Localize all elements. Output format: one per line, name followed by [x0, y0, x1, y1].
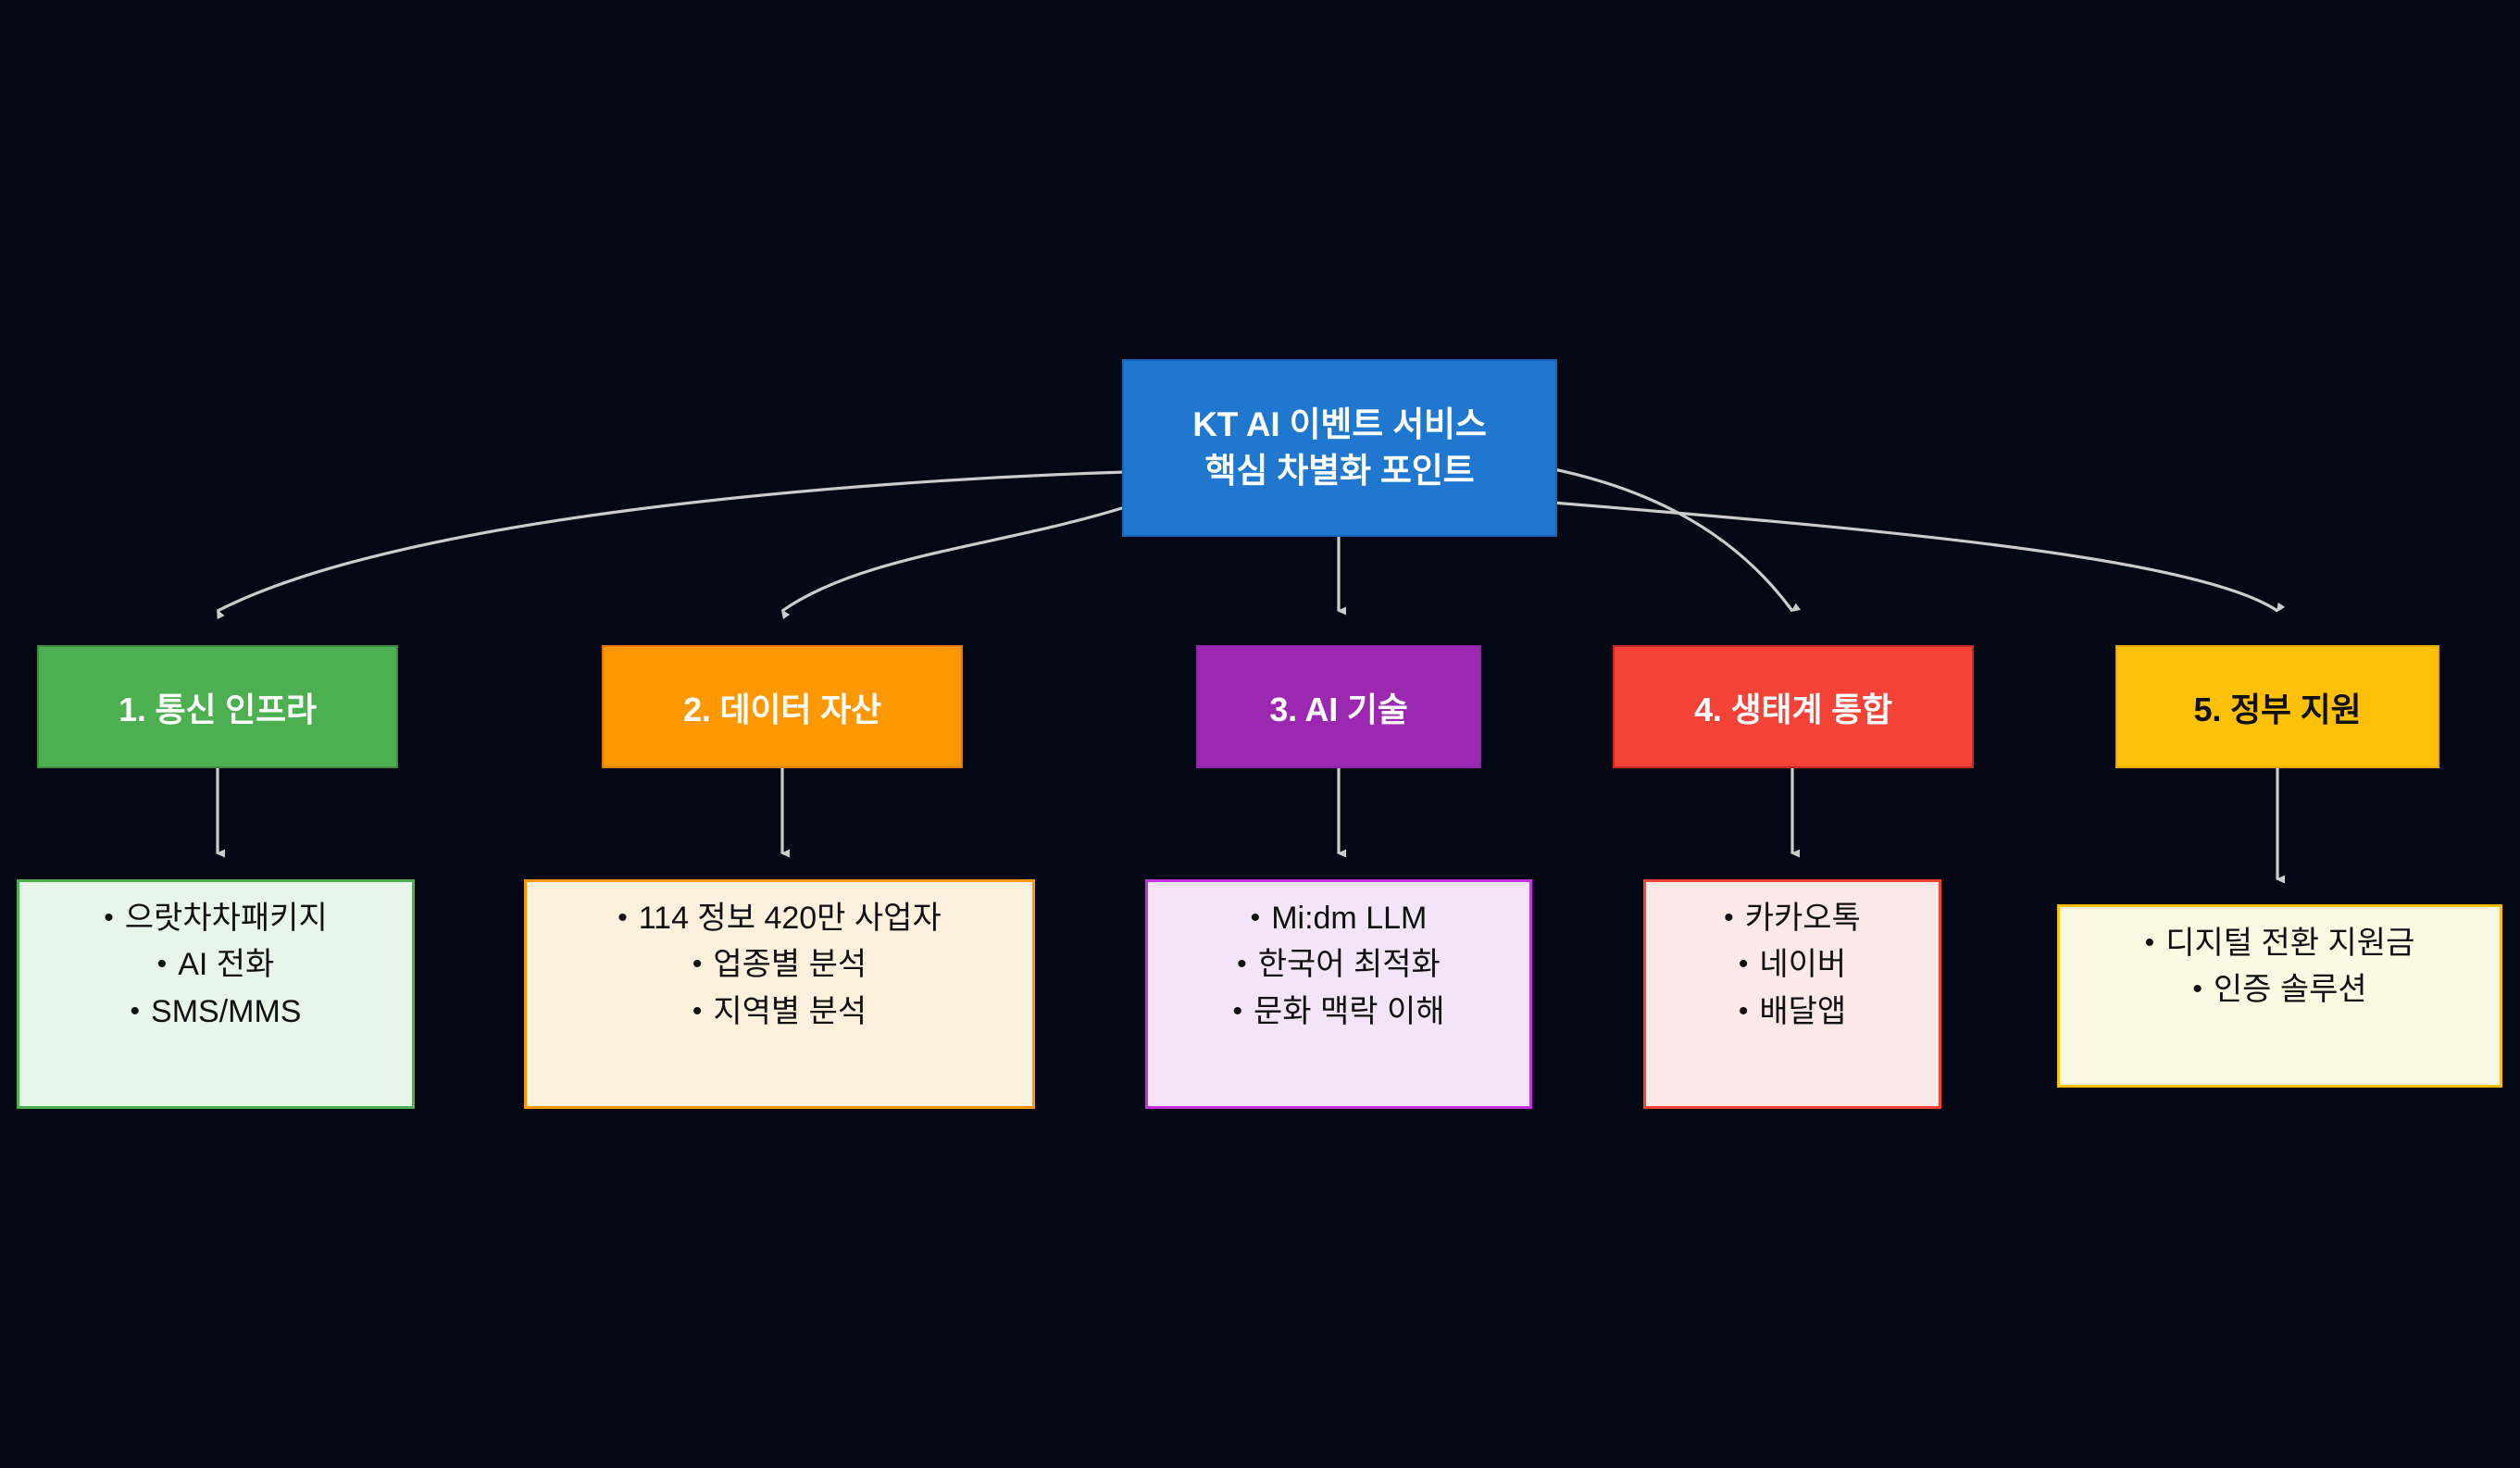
leaf-item: 카카오톡: [1657, 895, 1927, 941]
leaf-item: 배달앱: [1657, 989, 1927, 1035]
branch-node-2-label: 2. 데이터 자산: [683, 683, 881, 731]
edge-root-to-branch-5: [1518, 500, 2277, 611]
leaf-item: 지역별 분석: [538, 989, 1021, 1035]
root-node[interactable]: KT AI 이벤트 서비스 핵심 차별화 포인트: [1122, 359, 1557, 537]
branch-node-3-label: 3. AI 기술: [1269, 683, 1407, 731]
leaf-node-4[interactable]: 카카오톡 네이버 배달앱: [1643, 879, 1941, 1109]
edge-root-to-branch-4: [1518, 463, 1792, 611]
leaf-node-5-list: 디지털 전환 지원금 인증 솔루션: [2071, 920, 2489, 1014]
leaf-item: 114 정보 420만 사업자: [538, 895, 1021, 941]
leaf-node-1[interactable]: 으랏차차패키지 AI 전화 SMS/MMS: [17, 879, 415, 1109]
leaf-item: 네이버: [1657, 941, 1927, 988]
edge-root-to-branch-1: [218, 472, 1125, 611]
leaf-node-5[interactable]: 디지털 전환 지원금 인증 솔루션: [2057, 904, 2502, 1088]
leaf-node-2[interactable]: 114 정보 420만 사업자 업종별 분석 지역별 분석: [524, 879, 1035, 1109]
branch-node-4-label: 4. 생태계 통합: [1694, 683, 1892, 731]
leaf-node-3[interactable]: Mi:dm LLM 한국어 최적화 문화 맥락 이해: [1145, 879, 1532, 1109]
leaf-node-1-list: 으랏차차패키지 AI 전화 SMS/MMS: [31, 895, 401, 1035]
leaf-node-3-list: Mi:dm LLM 한국어 최적화 문화 맥락 이해: [1159, 895, 1518, 1035]
branch-node-1[interactable]: 1. 통신 인프라: [37, 645, 398, 768]
root-node-line-2: 핵심 차별화 포인트: [1192, 448, 1486, 494]
leaf-item: 으랏차차패키지: [31, 895, 401, 941]
leaf-item: 문화 맥락 이해: [1159, 989, 1518, 1035]
leaf-node-4-list: 카카오톡 네이버 배달앱: [1657, 895, 1927, 1035]
leaf-item: 한국어 최적화: [1159, 941, 1518, 988]
branch-node-2[interactable]: 2. 데이터 자산: [602, 645, 963, 768]
branch-node-1-label: 1. 통신 인프라: [119, 683, 317, 731]
leaf-item: SMS/MMS: [31, 989, 401, 1035]
branch-node-5-label: 5. 정부 지원: [2194, 683, 2362, 731]
branch-node-3[interactable]: 3. AI 기술: [1196, 645, 1481, 768]
root-node-text: KT AI 이벤트 서비스 핵심 차별화 포인트: [1192, 402, 1486, 494]
diagram-canvas: KT AI 이벤트 서비스 핵심 차별화 포인트 1. 통신 인프라 으랏차차패…: [0, 0, 2520, 1468]
leaf-node-2-list: 114 정보 420만 사업자 업종별 분석 지역별 분석: [538, 895, 1021, 1035]
root-node-line-1: KT AI 이벤트 서비스: [1192, 402, 1486, 448]
branch-node-4[interactable]: 4. 생태계 통합: [1613, 645, 1974, 768]
edge-root-to-branch-2: [782, 507, 1125, 611]
leaf-item: 인증 솔루션: [2071, 966, 2489, 1013]
leaf-item: AI 전화: [31, 941, 401, 988]
leaf-item: 업종별 분석: [538, 941, 1021, 988]
leaf-item: Mi:dm LLM: [1159, 895, 1518, 941]
leaf-item: 디지털 전환 지원금: [2071, 920, 2489, 966]
branch-node-5[interactable]: 5. 정부 지원: [2115, 645, 2439, 768]
